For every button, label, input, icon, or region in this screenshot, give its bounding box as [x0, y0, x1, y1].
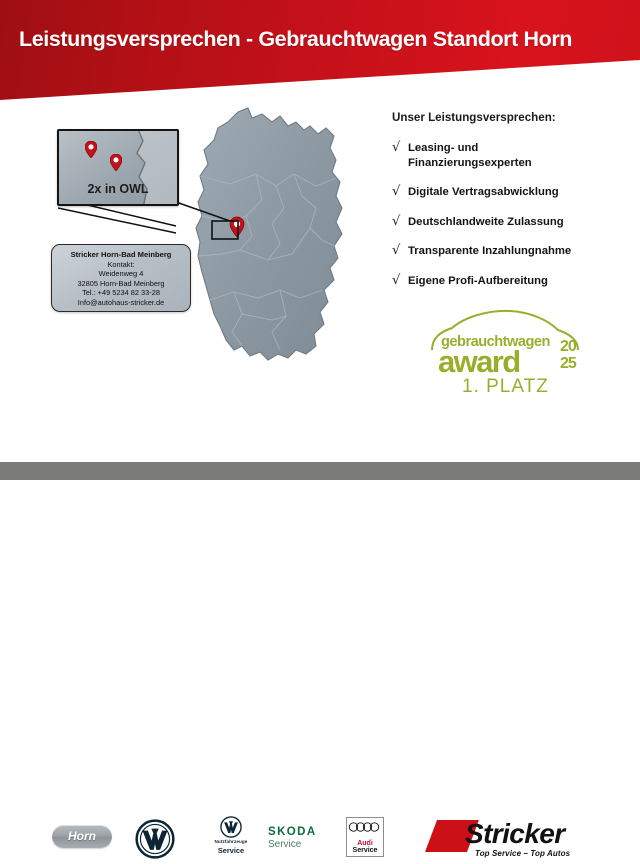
volkswagen-logo	[135, 819, 175, 864]
promise-list: Unser Leistungsversprechen: √ Leasing- u…	[392, 111, 636, 303]
address-line: Stricker Horn-Bad Meinberg	[56, 250, 186, 260]
check-icon: √	[392, 215, 408, 228]
vw-nfz-line2: Service	[203, 846, 259, 855]
address-line: Kontakt:	[56, 260, 186, 270]
address-line: Info@autohaus-stricker.de	[56, 298, 186, 308]
address-box: Stricker Horn-Bad Meinberg Kontakt: Weid…	[51, 244, 191, 312]
header-background	[0, 0, 640, 104]
vw-nfz-line1: Nutzfahrzeuge	[203, 839, 259, 844]
germany-map	[176, 104, 376, 404]
address-line: Weidenweg 4	[56, 269, 186, 279]
promise-item-label: Digitale Vertragsabwicklung	[408, 185, 559, 200]
map-body	[196, 108, 342, 360]
award-year-bottom: 25	[560, 356, 576, 373]
header-banner: Leistungsversprechen - Gebrauchtwagen St…	[0, 0, 640, 104]
stricker-logo: Stricker Top Service – Top Autos	[423, 816, 593, 861]
skoda-service-label: Service	[268, 839, 317, 850]
promise-heading: Unser Leistungsversprechen:	[392, 111, 636, 124]
footer-logos: Horn Nutzfahrzeuge Service SKODA Service	[0, 404, 640, 462]
check-icon: √	[392, 185, 408, 198]
check-icon: √	[392, 274, 408, 287]
slide-root: Leistungsversprechen - Gebrauchtwagen St…	[0, 0, 640, 480]
list-item: √ Transparente Inzahlungnahme	[392, 244, 636, 259]
inset-label: 2x in OWL	[59, 182, 177, 196]
award-year-top: 20	[560, 339, 576, 356]
award-year: 20 25	[560, 339, 576, 372]
audi-label: Audi	[347, 840, 383, 847]
check-icon: √	[392, 244, 408, 257]
audi-rings-icon	[348, 821, 382, 833]
award-word-main: award	[438, 344, 520, 380]
map-pin-icon	[110, 154, 122, 171]
skoda-service-logo: SKODA Service	[268, 826, 317, 850]
stricker-tagline: Top Service – Top Autos	[475, 849, 570, 858]
owl-zoom-inset: 2x in OWL	[57, 129, 179, 206]
skoda-wordmark: SKODA	[268, 826, 317, 838]
address-line: Tel.: +49 5234 82 33-28	[56, 288, 186, 298]
list-item: √ Leasing- und Finanzierungsexperten	[392, 141, 636, 170]
map-pin-icon	[85, 141, 97, 158]
promise-item-label: Transparente Inzahlungnahme	[408, 244, 571, 259]
germany-map-svg	[176, 104, 376, 404]
promise-item-label: Deutschlandweite Zulassung	[408, 215, 564, 230]
horn-badge: Horn	[52, 825, 112, 848]
horn-label: Horn	[52, 825, 112, 848]
audi-service-logo: Audi Service	[346, 817, 384, 857]
award-rank: 1. PLATZ	[462, 376, 549, 398]
vw-nutzfahrzeuge-service-logo: Nutzfahrzeuge Service	[203, 816, 259, 855]
stricker-wordmark: Stricker	[465, 818, 565, 850]
audi-service-label: Service	[347, 847, 383, 855]
award-badge: gebrauchtwagen award 20 25 1. PLATZ	[420, 308, 588, 398]
bottom-bar	[0, 462, 640, 480]
promise-item-label: Leasing- und Finanzierungsexperten	[408, 141, 532, 170]
check-icon: √	[392, 141, 408, 154]
list-item: √ Digitale Vertragsabwicklung	[392, 185, 636, 200]
promise-item-label: Eigene Profi-Aufbereitung	[408, 274, 548, 289]
list-item: √ Deutschlandweite Zulassung	[392, 215, 636, 230]
list-item: √ Eigene Profi-Aufbereitung	[392, 274, 636, 289]
page-title: Leistungsversprechen - Gebrauchtwagen St…	[19, 27, 572, 52]
address-line: 32805 Horn-Bad Meinberg	[56, 279, 186, 289]
